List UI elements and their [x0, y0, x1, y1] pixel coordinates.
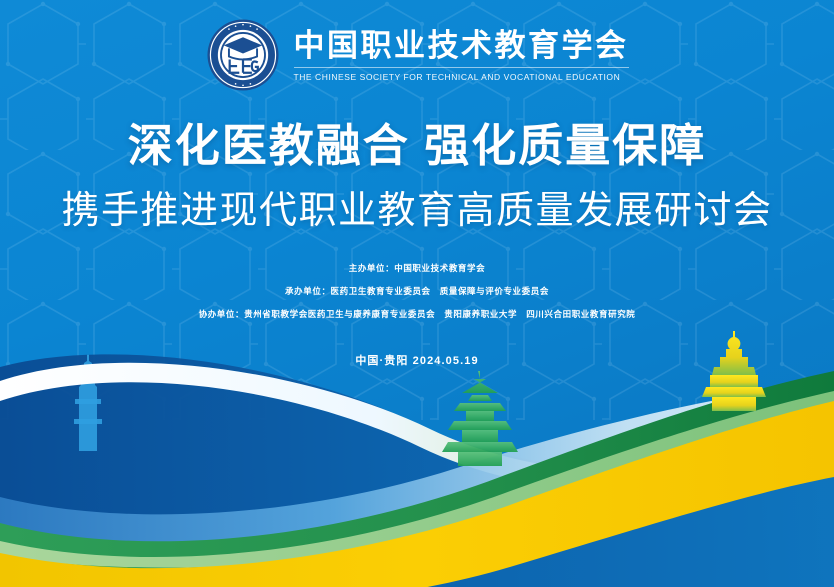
wave-white-crest [0, 363, 834, 493]
organizer-line-coorganizer: 协办单位：贵州省职教学会医药卫生与康养康育专业委员会 贵阳康养职业大学 四川兴合… [199, 308, 636, 320]
wave-navy-left [0, 354, 834, 587]
wave-green [0, 371, 834, 580]
location-date: 中国·贵阳 2024.05.19 [0, 352, 834, 368]
society-name-cn: 中国职业技术教育学会 [294, 30, 629, 63]
pagoda-silhouette-icon [442, 371, 518, 466]
society-logo-row: 中国职业技术教育学会 THE CHINESE SOCIETY FOR TECHN… [0, 18, 834, 92]
graduation-cap-emblem-icon [206, 18, 280, 92]
society-name-en: THE CHINESE SOCIETY FOR TECHNICAL AND VO… [294, 72, 621, 82]
organizer-line-host: 主办单位：中国职业技术教育学会 [349, 262, 486, 274]
wave-yellow [0, 401, 834, 587]
banner-title-sub: 携手推进现代职业教育高质量发展研讨会 [0, 191, 834, 233]
organizer-block: 主办单位：中国职业技术教育学会 承办单位：医药卫生教育专业委员会 质量保障与评价… [0, 262, 834, 320]
wave-green-highlight [0, 391, 834, 568]
jiaxiu-tower-silhouette-icon [702, 331, 766, 411]
organizer-line-undertaker: 承办单位：医药卫生教育专业委员会 质量保障与评价专业委员会 [285, 285, 549, 297]
society-name-divider [294, 67, 629, 68]
wave-lightblue [0, 381, 834, 546]
wave-navy-right [660, 423, 834, 476]
conference-banner: 中国职业技术教育学会 THE CHINESE SOCIETY FOR TECHN… [0, 0, 834, 587]
society-name-block: 中国职业技术教育学会 THE CHINESE SOCIETY FOR TECHN… [294, 28, 629, 83]
banner-title-main: 深化医教融合 强化质量保障 [0, 121, 834, 171]
